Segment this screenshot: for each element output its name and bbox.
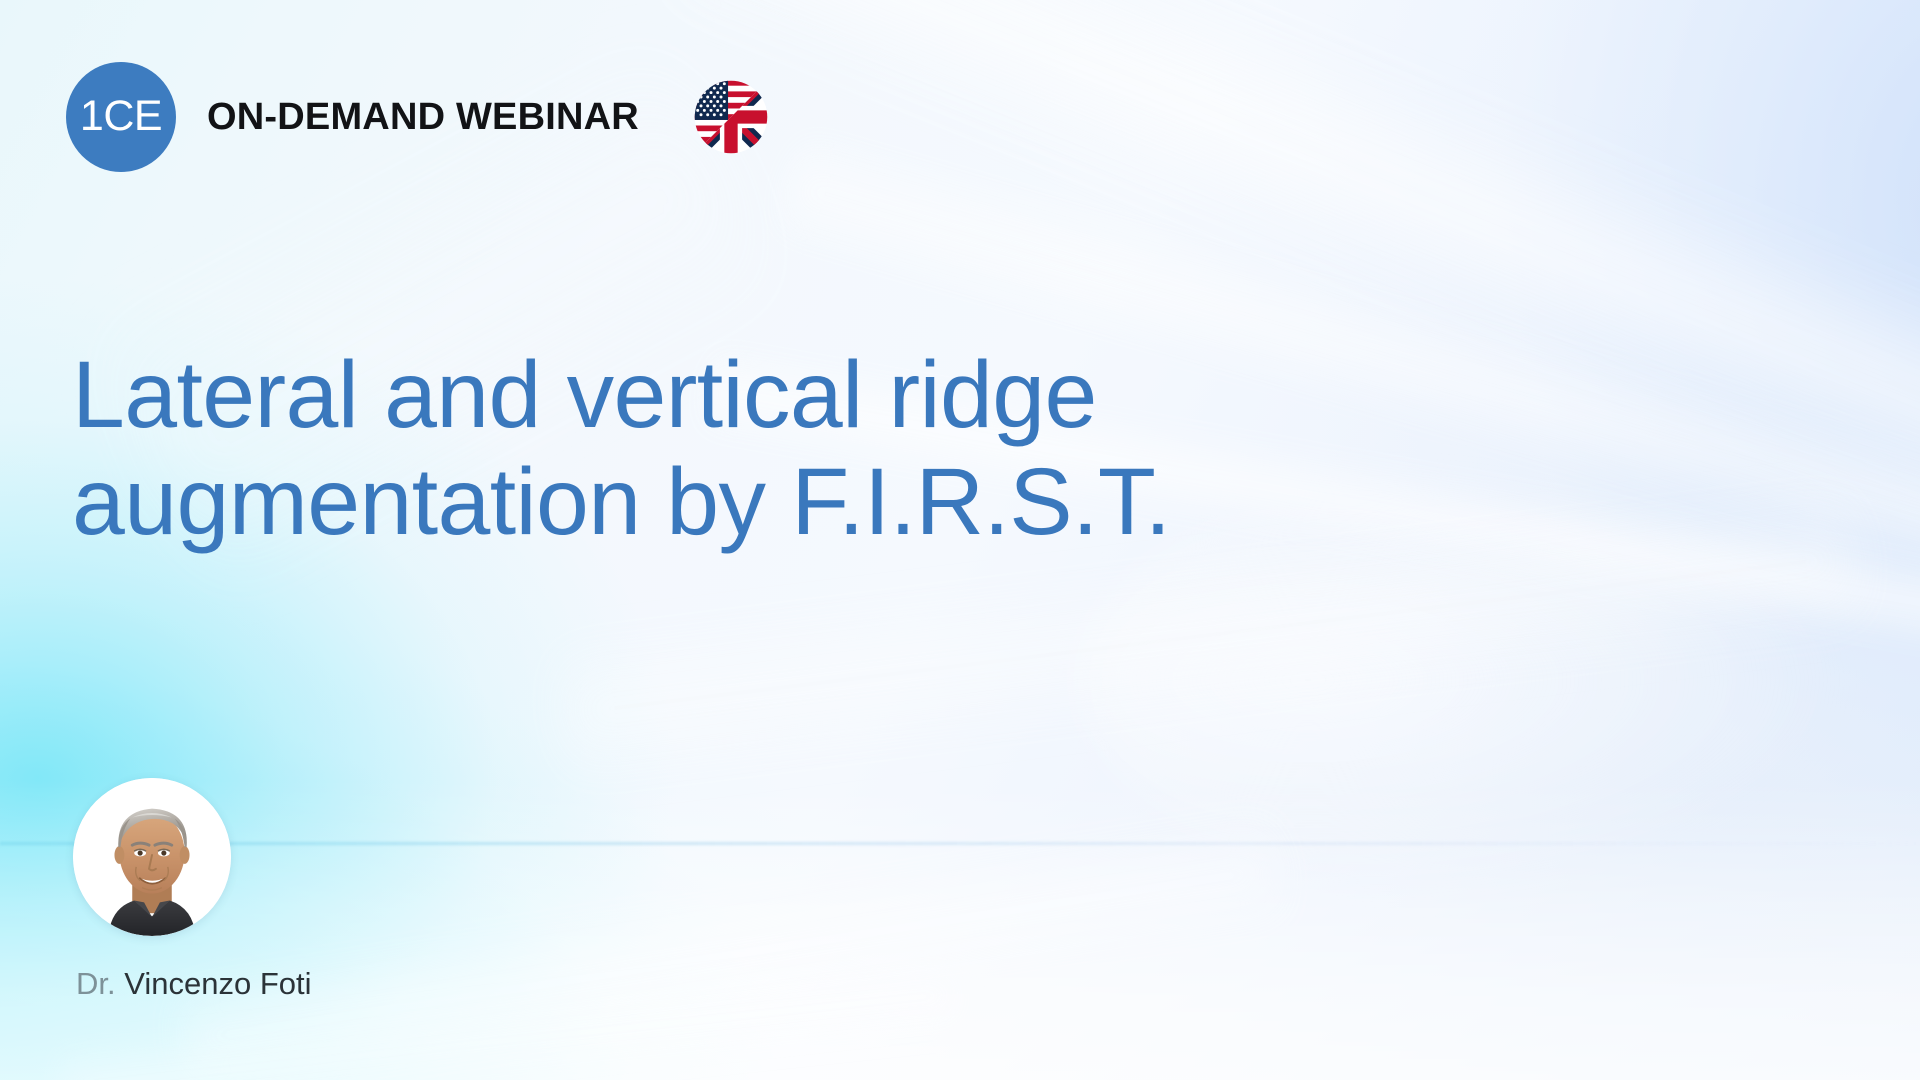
ce-credit-badge: 1CE <box>66 62 176 172</box>
ce-credit-badge-label: 1CE <box>80 95 162 138</box>
page-title-line-2: augmentation by F.I.R.S.T. <box>72 449 1392 556</box>
speaker-name-main: Vincenzo Foti <box>124 966 311 1001</box>
speaker-name-prefix: Dr. <box>76 966 124 1001</box>
webinar-title-slide: 1CE ON-DEMAND WEBINAR <box>0 0 1920 1080</box>
background-light-streak <box>178 815 1282 1080</box>
avatar <box>73 778 231 936</box>
speaker-block: Dr. Vincenzo Foti <box>73 778 312 999</box>
slide-header: 1CE ON-DEMAND WEBINAR <box>66 62 768 172</box>
webinar-type-label: ON-DEMAND WEBINAR <box>207 98 639 136</box>
page-title: Lateral and vertical ridge augmentation … <box>72 342 1392 557</box>
page-title-line-1: Lateral and vertical ridge <box>72 342 1392 449</box>
speaker-name: Dr. Vincenzo Foti <box>73 968 312 999</box>
us-uk-flag-icon <box>694 80 768 154</box>
